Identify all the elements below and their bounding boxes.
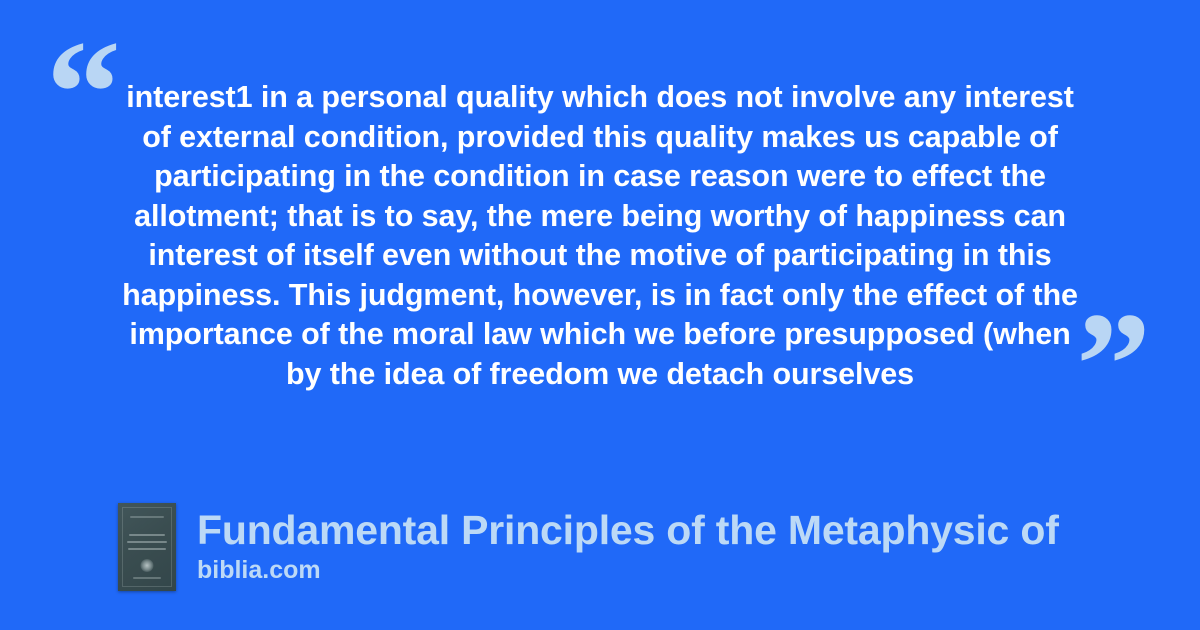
book-cover-title-line-2 [127, 541, 167, 543]
quote-block: “ interest1 in a personal quality which … [0, 0, 1200, 470]
book-cover-author-line [133, 577, 161, 579]
book-cover-title-line-1 [129, 534, 165, 536]
book-cover-border [122, 507, 172, 587]
source-attribution: Fundamental Principles of the Metaphysic… [118, 503, 1158, 595]
book-cover-publisher-line [130, 516, 164, 518]
closing-quotation-mark-icon: ” [1076, 290, 1151, 440]
quote-card: “ interest1 in a personal quality which … [0, 0, 1200, 630]
book-cover-emblem-icon [141, 559, 154, 572]
site-name: biblia.com [197, 555, 1059, 585]
quote-text: interest1 in a personal quality which do… [110, 78, 1090, 394]
book-cover-title-line-3 [128, 548, 166, 550]
book-title: Fundamental Principles of the Metaphysic… [197, 507, 1059, 553]
book-cover-thumbnail [118, 503, 176, 591]
source-text-group: Fundamental Principles of the Metaphysic… [197, 503, 1059, 585]
